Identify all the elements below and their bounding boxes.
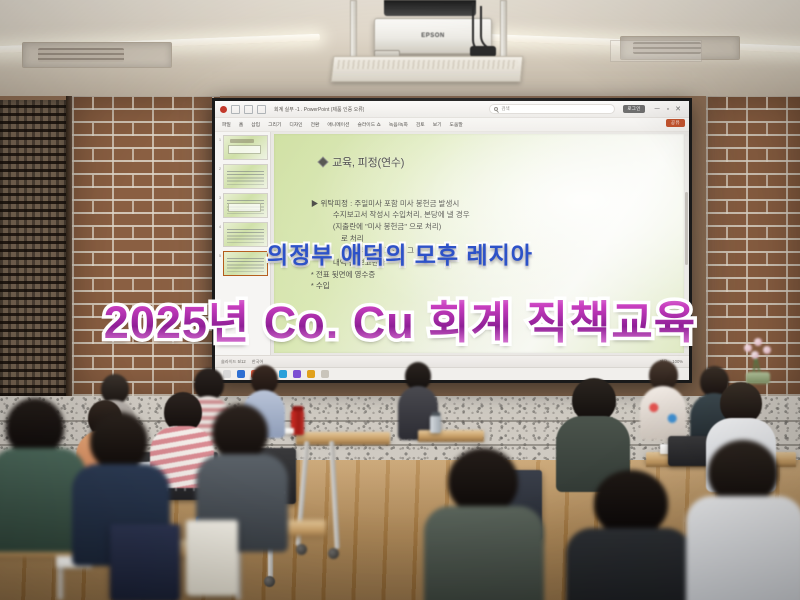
- list-item[interactable]: 2: [217, 164, 268, 189]
- save-icon[interactable]: [220, 106, 227, 113]
- ribbon-tab-draw[interactable]: 그리기: [268, 121, 281, 128]
- projector-brand-label: EPSON: [421, 33, 445, 39]
- powerpoint-status-bar: 슬라이드 5/12 한국어 메모 100%: [215, 355, 689, 367]
- app-icon[interactable]: [293, 370, 301, 378]
- thumbnail-number: 2: [217, 164, 221, 171]
- ceiling-air-conditioner-icon: [22, 42, 172, 68]
- tote-bag: [186, 520, 238, 596]
- window-title: 회계 실무 -1 . PowerPoint (제품 인증 오류): [274, 106, 364, 113]
- slide-line: 수지보고서 작성시 수입처리, 본당에 낼 경우: [311, 209, 668, 221]
- ribbon-tab-insert[interactable]: 삽입: [251, 121, 260, 128]
- desk: [418, 430, 484, 438]
- minimize-icon[interactable]: －: [654, 106, 661, 113]
- person-seated: [566, 470, 692, 600]
- desk-caster: [264, 576, 275, 587]
- ribbon-tab-slideshow[interactable]: 슬라이드 쇼: [357, 121, 380, 128]
- desk-caster: [296, 544, 307, 555]
- slideshow-icon[interactable]: [257, 105, 266, 114]
- window-controls[interactable]: － ▫ ✕: [654, 106, 681, 113]
- account-badge[interactable]: 로그인: [623, 105, 644, 113]
- share-button[interactable]: 공유: [666, 119, 685, 127]
- search-placeholder: 검색: [501, 106, 509, 112]
- ceiling-projector: EPSON: [322, 0, 542, 90]
- ceiling-panel: [610, 40, 702, 62]
- ribbon-tab-transitions[interactable]: 전환: [311, 121, 320, 128]
- redo-icon[interactable]: [244, 105, 253, 114]
- slide-thumbnail-selected[interactable]: [223, 251, 268, 276]
- projector-mount-arm: [350, 0, 357, 60]
- ribbon-tab-animations[interactable]: 애니메이션: [327, 121, 349, 128]
- slide-title: 교육, 피정(연수): [319, 154, 404, 170]
- desk: [296, 432, 390, 441]
- powerpoint-title-bar: 회계 실무 -1 . PowerPoint (제품 인증 오류) 검색 로그인 …: [215, 101, 689, 118]
- person-seated: [424, 448, 544, 600]
- slide-thumbnail[interactable]: [223, 193, 268, 218]
- ribbon-tab-review[interactable]: 검토: [416, 121, 425, 128]
- thumbnail-number: 3: [217, 193, 221, 200]
- ribbon-tab-record[interactable]: 녹음/녹화: [389, 121, 408, 128]
- projector-ceiling-slot: [331, 56, 524, 82]
- diamond-bullet-icon: [317, 156, 328, 167]
- thumbnail-number: 4: [217, 222, 221, 229]
- slide-title-text: 교육, 피정(연수): [332, 154, 404, 170]
- thumbnail-number: 1: [217, 135, 221, 142]
- ribbon-tab-file[interactable]: 파일: [222, 121, 231, 128]
- desk-caster: [328, 548, 339, 559]
- search-input[interactable]: 검색: [489, 104, 615, 114]
- water-bottle: [430, 415, 441, 433]
- projector-cable: [480, 6, 494, 50]
- slide-line: (지출란에 "미사 봉헌금" 으로 처리): [311, 221, 668, 233]
- projector-mount-plate: [384, 0, 476, 16]
- photo-scene: EPSON 회계 실무 -1 . PowerPoint (제품 인증 오류): [0, 0, 800, 600]
- projector-mount-arm: [500, 0, 507, 60]
- close-icon[interactable]: ✕: [675, 106, 681, 113]
- slide-line: * 전표 뒷면에 영수증: [311, 269, 668, 281]
- app-icon[interactable]: [307, 370, 315, 378]
- language-label[interactable]: 한국어: [252, 359, 264, 365]
- slide-thumbnail[interactable]: [223, 135, 268, 160]
- list-item[interactable]: 5: [217, 251, 268, 276]
- person-seated: [640, 360, 686, 438]
- caption-subtitle: 의정부 애덕의 모후 레지아: [267, 236, 533, 270]
- wooden-lattice-panel: [0, 100, 74, 396]
- slide-thumbnail[interactable]: [223, 164, 268, 189]
- person-seated: [686, 440, 800, 600]
- ribbon-tab-home[interactable]: 홈: [239, 121, 243, 128]
- list-item[interactable]: 4: [217, 222, 268, 247]
- list-item[interactable]: 3: [217, 193, 268, 218]
- slide-thumbnail[interactable]: [223, 222, 268, 247]
- thumbnail-number: 5: [217, 251, 221, 258]
- search-icon: [494, 107, 498, 111]
- ribbon-tab-design[interactable]: 디자인: [289, 121, 302, 128]
- slide-line: ▶ 위탁피정 : 주일미사 포함 미사 봉헌금 발생시: [311, 198, 668, 210]
- list-item[interactable]: 1: [217, 135, 268, 160]
- ribbon-tab-help[interactable]: 도움말: [450, 121, 463, 128]
- undo-icon[interactable]: [231, 105, 240, 114]
- powerpoint-ribbon: 파일 홈 삽입 그리기 디자인 전환 애니메이션 슬라이드 쇼 녹음/녹화 검토…: [215, 118, 689, 132]
- brick-wall-detail: [72, 96, 220, 396]
- app-icon[interactable]: [321, 370, 329, 378]
- maximize-icon[interactable]: ▫: [667, 106, 669, 113]
- ribbon-tab-view[interactable]: 보기: [433, 121, 442, 128]
- caption-title: 2025년 Co. Cu 회계 직책교육: [104, 286, 696, 351]
- handbag: [110, 524, 180, 600]
- slide-indicator: 슬라이드 5/12: [221, 359, 246, 365]
